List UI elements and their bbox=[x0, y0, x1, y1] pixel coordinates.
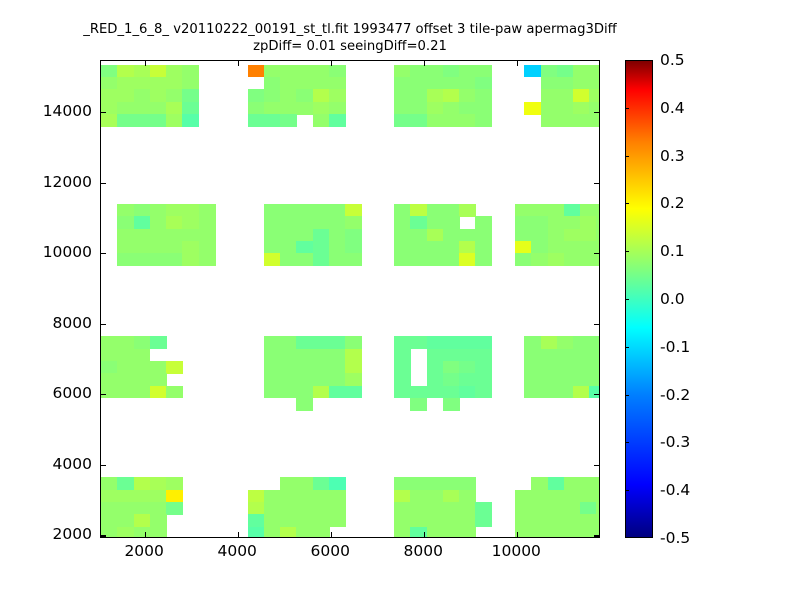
heatmap-cell bbox=[150, 77, 167, 90]
heatmap-cell bbox=[394, 349, 411, 362]
heatmap-cell bbox=[345, 349, 362, 362]
heatmap-cell bbox=[459, 253, 476, 266]
y-axis-tick-label: 14000 bbox=[43, 102, 92, 120]
heatmap-cell bbox=[296, 349, 313, 362]
heatmap-cell bbox=[117, 373, 134, 386]
y-axis-tick-label: 8000 bbox=[53, 314, 92, 332]
heatmap-cell bbox=[134, 349, 151, 362]
heatmap-cell bbox=[134, 502, 151, 515]
heatmap-cell bbox=[150, 336, 167, 349]
heatmap-cell bbox=[313, 216, 330, 229]
heatmap-cell bbox=[280, 114, 297, 127]
heatmap-cell bbox=[150, 477, 167, 490]
heatmap-cell bbox=[410, 241, 427, 254]
heatmap-cell bbox=[134, 490, 151, 503]
heatmap-cell bbox=[580, 253, 597, 266]
heatmap-cell bbox=[524, 373, 541, 386]
heatmap-cell bbox=[557, 102, 574, 115]
heatmap-cell bbox=[443, 216, 460, 229]
heatmap-cell bbox=[515, 229, 532, 242]
heatmap-cell bbox=[443, 349, 460, 362]
heatmap-cell bbox=[248, 89, 265, 102]
colorbar-tick-label: -0.2 bbox=[660, 386, 690, 404]
heatmap-cell bbox=[101, 89, 118, 102]
heatmap-cell bbox=[280, 514, 297, 527]
heatmap-cell bbox=[573, 114, 590, 127]
heatmap-cell bbox=[166, 241, 183, 254]
heatmap-cell bbox=[459, 502, 476, 515]
heatmap-cell bbox=[296, 336, 313, 349]
heatmap-cell bbox=[596, 514, 600, 527]
heatmap-cell bbox=[280, 527, 297, 538]
heatmap-cell bbox=[548, 514, 565, 527]
colorbar-tick bbox=[625, 442, 629, 443]
heatmap-cell bbox=[280, 241, 297, 254]
heatmap-cell bbox=[394, 229, 411, 242]
heatmap-cell bbox=[264, 253, 281, 266]
heatmap-cell bbox=[264, 89, 281, 102]
heatmap-cell bbox=[296, 502, 313, 515]
heatmap-cell bbox=[313, 336, 330, 349]
y-axis-tick bbox=[594, 535, 599, 536]
heatmap-cell bbox=[475, 241, 492, 254]
heatmap-cell bbox=[443, 477, 460, 490]
heatmap-cell bbox=[117, 102, 134, 115]
heatmap-cell bbox=[589, 89, 600, 102]
heatmap-cell bbox=[394, 253, 411, 266]
heatmap-cell bbox=[515, 514, 532, 527]
heatmap-cell bbox=[329, 216, 346, 229]
heatmap-cell bbox=[596, 216, 600, 229]
heatmap-cell bbox=[541, 386, 558, 399]
heatmap-cell bbox=[150, 253, 167, 266]
heatmap-cell bbox=[475, 336, 492, 349]
heatmap-cell bbox=[548, 216, 565, 229]
heatmap-cell bbox=[313, 502, 330, 515]
heatmap-cell bbox=[182, 229, 199, 242]
heatmap-cell bbox=[313, 229, 330, 242]
heatmap-cell bbox=[117, 65, 134, 78]
heatmap-cell bbox=[427, 361, 444, 374]
heatmap-cell bbox=[280, 361, 297, 374]
heatmap-cell bbox=[531, 490, 548, 503]
colorbar bbox=[625, 60, 653, 538]
heatmap-cell bbox=[459, 477, 476, 490]
heatmap-cell bbox=[410, 114, 427, 127]
heatmap-cell bbox=[475, 373, 492, 386]
heatmap-cell bbox=[564, 204, 581, 217]
heatmap-cell bbox=[524, 349, 541, 362]
x-axis-tick bbox=[145, 61, 146, 66]
heatmap-cell bbox=[475, 386, 492, 399]
heatmap-cell bbox=[427, 527, 444, 538]
colorbar-tick bbox=[625, 108, 629, 109]
heatmap-cell bbox=[410, 204, 427, 217]
heatmap-cell bbox=[443, 253, 460, 266]
heatmap-cell bbox=[557, 77, 574, 90]
heatmap-cell bbox=[182, 77, 199, 90]
heatmap-cell bbox=[101, 336, 118, 349]
heatmap-cell bbox=[515, 253, 532, 266]
heatmap-cell bbox=[329, 114, 346, 127]
heatmap-cell bbox=[329, 89, 346, 102]
heatmap-cell bbox=[531, 477, 548, 490]
heatmap-cell bbox=[280, 204, 297, 217]
heatmap-cell bbox=[394, 204, 411, 217]
heatmap-cell bbox=[427, 373, 444, 386]
colorbar-tick-label: -0.4 bbox=[660, 481, 690, 499]
heatmap-cell bbox=[410, 102, 427, 115]
heatmap-cell bbox=[443, 502, 460, 515]
heatmap-cell bbox=[264, 349, 281, 362]
y-axis-tick-label: 4000 bbox=[53, 455, 92, 473]
heatmap-cell bbox=[394, 216, 411, 229]
y-axis-tick bbox=[594, 183, 599, 184]
heatmap-cell bbox=[101, 502, 118, 515]
heatmap-cell bbox=[280, 89, 297, 102]
heatmap-cell bbox=[264, 77, 281, 90]
heatmap-cell bbox=[329, 477, 346, 490]
heatmap-cell bbox=[580, 514, 597, 527]
heatmap-cell bbox=[475, 253, 492, 266]
heatmap-cell bbox=[248, 502, 265, 515]
heatmap-cell bbox=[541, 336, 558, 349]
heatmap-cell bbox=[410, 398, 427, 411]
heatmap-cell bbox=[166, 89, 183, 102]
colorbar-tick bbox=[625, 299, 629, 300]
heatmap-cell bbox=[280, 253, 297, 266]
figure-canvas: _RED_1_6_8_ v20110222_00191_st_tl.fit 19… bbox=[0, 0, 800, 600]
heatmap-cell bbox=[459, 77, 476, 90]
colorbar-tick-label: 0.5 bbox=[660, 51, 685, 69]
heatmap-cell bbox=[313, 527, 330, 538]
heatmap-cell bbox=[296, 490, 313, 503]
y-axis-tick bbox=[594, 324, 599, 325]
heatmap-cell bbox=[101, 65, 118, 78]
heatmap-cell bbox=[548, 490, 565, 503]
heatmap-cell bbox=[313, 253, 330, 266]
heatmap-cell bbox=[557, 89, 574, 102]
heatmap-cell bbox=[531, 253, 548, 266]
heatmap-cell bbox=[580, 477, 597, 490]
heatmap-cell bbox=[248, 114, 265, 127]
x-axis-tick bbox=[145, 532, 146, 537]
colorbar-tick bbox=[625, 347, 629, 348]
heatmap-cell bbox=[134, 527, 151, 538]
heatmap-cell bbox=[427, 253, 444, 266]
heatmap-cell bbox=[427, 114, 444, 127]
heatmap-cell bbox=[410, 336, 427, 349]
figure-title: _RED_1_6_8_ v20110222_00191_st_tl.fit 19… bbox=[0, 22, 700, 55]
heatmap-cell bbox=[541, 102, 558, 115]
heatmap-cell bbox=[573, 102, 590, 115]
heatmap-cell bbox=[182, 204, 199, 217]
heatmap-cell bbox=[150, 241, 167, 254]
heatmap-cell bbox=[548, 253, 565, 266]
heatmap-cell bbox=[166, 490, 183, 503]
heatmap-cell bbox=[394, 77, 411, 90]
heatmap-cell bbox=[296, 102, 313, 115]
heatmap-cell bbox=[296, 477, 313, 490]
heatmap-cell bbox=[134, 361, 151, 374]
heatmap-cell bbox=[264, 241, 281, 254]
heatmap-cell bbox=[475, 102, 492, 115]
heatmap-cell bbox=[475, 229, 492, 242]
heatmap-cell bbox=[329, 204, 346, 217]
heatmap-cell bbox=[313, 204, 330, 217]
heatmap-cell bbox=[564, 514, 581, 527]
x-axis-tick bbox=[238, 532, 239, 537]
heatmap-cell bbox=[459, 65, 476, 78]
heatmap-cell bbox=[313, 361, 330, 374]
heatmap-cell bbox=[248, 65, 265, 78]
heatmap-cell bbox=[541, 114, 558, 127]
heatmap-cell bbox=[557, 114, 574, 127]
heatmap-cell bbox=[459, 102, 476, 115]
heatmap-cell bbox=[313, 349, 330, 362]
heatmap-cell bbox=[548, 204, 565, 217]
heatmap-cell bbox=[427, 502, 444, 515]
colorbar-tick bbox=[625, 490, 629, 491]
heatmap-cell bbox=[101, 477, 118, 490]
heatmap-cell bbox=[564, 229, 581, 242]
heatmap-cell bbox=[394, 336, 411, 349]
heatmap-cell bbox=[117, 241, 134, 254]
heatmap-cell bbox=[264, 373, 281, 386]
heatmap-cell bbox=[580, 216, 597, 229]
heatmap-cell bbox=[427, 349, 444, 362]
heatmap-cell bbox=[329, 241, 346, 254]
y-axis-tick bbox=[101, 112, 106, 113]
heatmap-cell bbox=[313, 114, 330, 127]
heatmap-cell bbox=[248, 102, 265, 115]
heatmap-cell bbox=[459, 204, 476, 217]
heatmap-cell bbox=[564, 502, 581, 515]
heatmap-cell bbox=[117, 89, 134, 102]
heatmap-cell bbox=[443, 386, 460, 399]
heatmap-cell bbox=[589, 349, 600, 362]
heatmap-cell bbox=[410, 89, 427, 102]
heatmap-cell bbox=[264, 229, 281, 242]
heatmap-cell bbox=[596, 204, 600, 217]
y-axis-tick bbox=[594, 465, 599, 466]
heatmap-cell bbox=[150, 114, 167, 127]
heatmap-cell bbox=[280, 65, 297, 78]
heatmap-cell bbox=[589, 114, 600, 127]
heatmap-cell bbox=[166, 386, 183, 399]
heatmap-cell bbox=[394, 490, 411, 503]
heatmap-cell bbox=[134, 65, 151, 78]
heatmap-cell bbox=[443, 336, 460, 349]
heatmap-cell bbox=[329, 349, 346, 362]
x-axis-tick-label: 8000 bbox=[404, 542, 443, 560]
heatmap-cell bbox=[410, 253, 427, 266]
heatmap-cell bbox=[280, 77, 297, 90]
heatmap-cell bbox=[150, 527, 167, 538]
heatmap-cell bbox=[548, 527, 565, 538]
heatmap-cell bbox=[117, 386, 134, 399]
heatmap-cell bbox=[264, 114, 281, 127]
heatmap-cell bbox=[580, 229, 597, 242]
heatmap-cell bbox=[531, 216, 548, 229]
heatmap-cell bbox=[150, 514, 167, 527]
colorbar-tick bbox=[625, 395, 629, 396]
heatmap-cell bbox=[329, 514, 346, 527]
heatmap-cell bbox=[394, 514, 411, 527]
heatmap-cell bbox=[117, 361, 134, 374]
heatmap-cell bbox=[596, 229, 600, 242]
heatmap-cell bbox=[150, 204, 167, 217]
heatmap-cell bbox=[589, 361, 600, 374]
heatmap-cell bbox=[345, 386, 362, 399]
heatmap-cell bbox=[296, 241, 313, 254]
heatmap-cell bbox=[134, 229, 151, 242]
heatmap-cell bbox=[280, 477, 297, 490]
heatmap-cell bbox=[427, 229, 444, 242]
heatmap-cell bbox=[117, 229, 134, 242]
heatmap-cell bbox=[541, 89, 558, 102]
heatmap-cell bbox=[182, 65, 199, 78]
heatmap-cell bbox=[264, 102, 281, 115]
heatmap-cell bbox=[573, 336, 590, 349]
heatmap-cell bbox=[117, 490, 134, 503]
heatmap-cell bbox=[557, 361, 574, 374]
heatmap-cell bbox=[541, 361, 558, 374]
heatmap-cell bbox=[394, 102, 411, 115]
colorbar-tick-label: -0.1 bbox=[660, 338, 690, 356]
heatmap-cell bbox=[427, 77, 444, 90]
heatmap-cell bbox=[596, 253, 600, 266]
heatmap-cell bbox=[134, 514, 151, 527]
heatmap-cell bbox=[475, 89, 492, 102]
heatmap-cell bbox=[541, 77, 558, 90]
heatmap-cell bbox=[459, 229, 476, 242]
heatmap-cell bbox=[394, 373, 411, 386]
heatmap-cell bbox=[531, 502, 548, 515]
heatmap-cell bbox=[394, 386, 411, 399]
colorbar-tick-label: 0.1 bbox=[660, 242, 685, 260]
heatmap-cell bbox=[329, 102, 346, 115]
y-axis-tick bbox=[101, 465, 106, 466]
heatmap-cell bbox=[345, 204, 362, 217]
heatmap-cell bbox=[329, 229, 346, 242]
heatmap-cell bbox=[296, 386, 313, 399]
y-axis-tick-label: 2000 bbox=[53, 525, 92, 543]
heatmap-cell bbox=[101, 386, 118, 399]
heatmap-cell bbox=[296, 361, 313, 374]
heatmap-cell bbox=[296, 77, 313, 90]
heatmap-cell bbox=[264, 514, 281, 527]
y-axis-tick bbox=[594, 112, 599, 113]
heatmap-cell bbox=[410, 502, 427, 515]
heatmap-cell bbox=[589, 336, 600, 349]
y-axis-tick bbox=[101, 183, 106, 184]
heatmap-cell bbox=[264, 490, 281, 503]
heatmap-cell bbox=[541, 349, 558, 362]
heatmap-cell bbox=[101, 361, 118, 374]
heatmap-cell bbox=[515, 490, 532, 503]
heatmap-cell bbox=[313, 77, 330, 90]
heatmap-cell bbox=[150, 89, 167, 102]
heatmap-cell bbox=[101, 514, 118, 527]
heatmap-cell bbox=[280, 502, 297, 515]
heatmap-cell bbox=[557, 336, 574, 349]
heatmap-cell bbox=[427, 514, 444, 527]
heatmap-cell bbox=[580, 490, 597, 503]
heatmap-cell bbox=[548, 229, 565, 242]
heatmap-cell bbox=[117, 336, 134, 349]
heatmap-cell bbox=[117, 527, 134, 538]
heatmap-cell bbox=[459, 490, 476, 503]
x-axis-tick-label: 2000 bbox=[124, 542, 163, 560]
heatmap-cell bbox=[182, 89, 199, 102]
heatmap-cell bbox=[531, 514, 548, 527]
colorbar-tick bbox=[625, 203, 629, 204]
heatmap-cell bbox=[557, 373, 574, 386]
heatmap-cell bbox=[150, 502, 167, 515]
heatmap-cell bbox=[101, 114, 118, 127]
heatmap-cell bbox=[166, 102, 183, 115]
heatmap-cell bbox=[564, 253, 581, 266]
heatmap-cell bbox=[199, 241, 216, 254]
heatmap-cell bbox=[475, 65, 492, 78]
heatmap-cell bbox=[296, 65, 313, 78]
heatmap-cell bbox=[329, 361, 346, 374]
heatmap-cell bbox=[459, 114, 476, 127]
x-axis-tick-label: 6000 bbox=[310, 542, 349, 560]
x-axis-tick bbox=[331, 61, 332, 66]
heatmap-cell bbox=[117, 477, 134, 490]
heatmap-cell bbox=[134, 216, 151, 229]
heatmap-cell bbox=[264, 527, 281, 538]
y-axis-tick bbox=[594, 253, 599, 254]
heatmap-cell bbox=[264, 204, 281, 217]
heatmap-cell bbox=[166, 229, 183, 242]
y-axis-tick bbox=[101, 394, 106, 395]
y-axis-tick-label: 10000 bbox=[43, 243, 92, 261]
heatmap-cell bbox=[117, 514, 134, 527]
heatmap-cell bbox=[541, 373, 558, 386]
y-axis-tick bbox=[101, 253, 106, 254]
heatmap-cells bbox=[101, 61, 599, 537]
heatmap-cell bbox=[117, 204, 134, 217]
heatmap-cell bbox=[427, 241, 444, 254]
heatmap-cell bbox=[443, 527, 460, 538]
heatmap-cell bbox=[564, 241, 581, 254]
heatmap-cell bbox=[182, 102, 199, 115]
x-axis-tick bbox=[517, 61, 518, 66]
heatmap-cell bbox=[101, 490, 118, 503]
heatmap-cell bbox=[296, 373, 313, 386]
heatmap-cell bbox=[427, 204, 444, 217]
heatmap-cell bbox=[557, 349, 574, 362]
heatmap-cell bbox=[134, 204, 151, 217]
heatmap-cell bbox=[166, 65, 183, 78]
heatmap-cell bbox=[134, 386, 151, 399]
heatmap-cell bbox=[329, 77, 346, 90]
heatmap-cell bbox=[101, 77, 118, 90]
heatmap-cell bbox=[313, 65, 330, 78]
heatmap-cell bbox=[296, 527, 313, 538]
heatmap-cell bbox=[548, 477, 565, 490]
heatmap-cell bbox=[296, 204, 313, 217]
x-axis-tick-label: 10000 bbox=[492, 542, 541, 560]
heatmap-cell bbox=[134, 336, 151, 349]
heatmap-cell bbox=[264, 361, 281, 374]
heatmap-cell bbox=[524, 102, 541, 115]
heatmap-cell bbox=[589, 373, 600, 386]
heatmap-cell bbox=[394, 477, 411, 490]
